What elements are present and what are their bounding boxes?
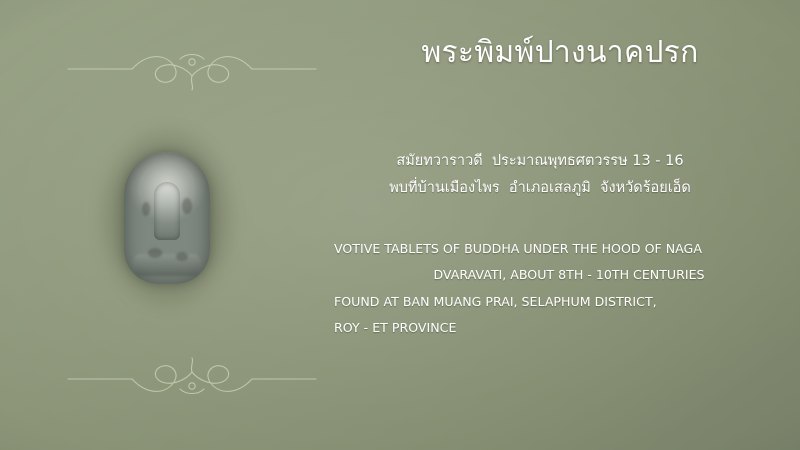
english-line-object: VOTIVE TABLETS OF BUDDHA UNDER THE HOOD … bbox=[300, 236, 780, 262]
english-line-period: DVARAVATI, ABOUT 8TH - 10TH CENTURIES bbox=[300, 262, 780, 288]
english-description: VOTIVE TABLETS OF BUDDHA UNDER THE HOOD … bbox=[300, 236, 780, 342]
page-title: พระพิมพ์ปางนาคปรก bbox=[340, 34, 780, 72]
artifact-texture-speck bbox=[182, 198, 192, 214]
flourish-divider-bottom-icon bbox=[62, 356, 322, 402]
artifact-texture-speck bbox=[176, 252, 188, 261]
artifact-texture-speck bbox=[148, 248, 162, 258]
thai-line-period: สมัยทวาราวดี ประมาณพุทธศตวรรษ 13 - 16 bbox=[300, 148, 780, 175]
artifact-texture-speck bbox=[142, 202, 150, 216]
artifact-buddha-figure bbox=[154, 182, 180, 240]
thai-description: สมัยทวาราวดี ประมาณพุทธศตวรรษ 13 - 16 พบ… bbox=[300, 148, 780, 202]
thai-line-findspot: พบที่บ้านเมืองไพร อำเภอเสลภูมิ จังหวัดร้… bbox=[300, 175, 780, 202]
votive-tablet-image bbox=[124, 152, 210, 284]
english-line-findspot: FOUND AT BAN MUANG PRAI, SELAPHUM DISTRI… bbox=[300, 289, 780, 315]
artifact-base bbox=[134, 254, 200, 276]
artifact-tablet bbox=[124, 152, 210, 284]
flourish-divider-top-icon bbox=[62, 46, 322, 92]
english-line-province: ROY - ET PROVINCE bbox=[300, 315, 780, 341]
slide-canvas: พระพิมพ์ปางนาคปรก สมัยทวาราวดี ประมาณพุท… bbox=[0, 0, 800, 450]
